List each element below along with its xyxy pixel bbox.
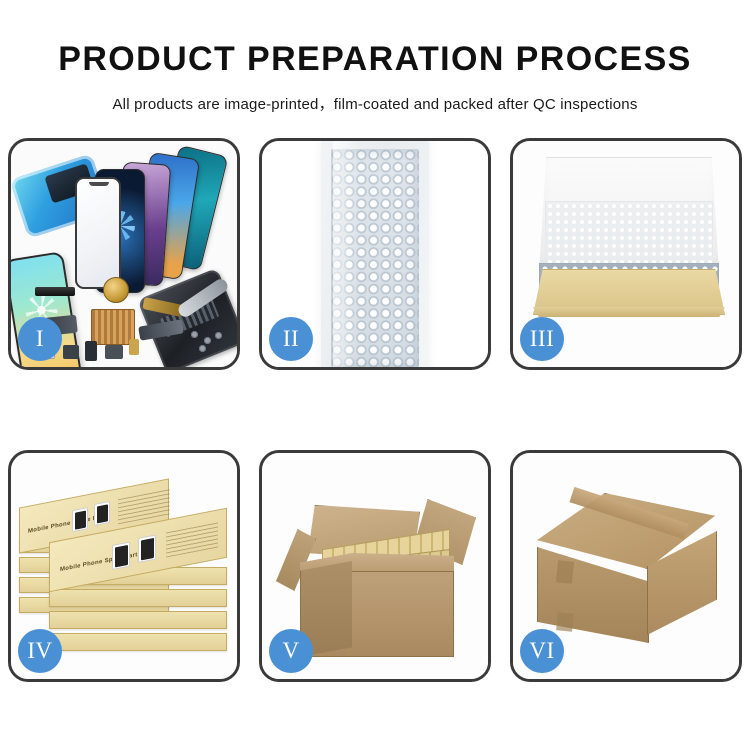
infographic-page: PRODUCT PREPARATION PROCESS All products… <box>0 0 750 750</box>
small-part-icon <box>63 345 79 359</box>
battery-connector-icon <box>85 341 97 361</box>
step-badge-6: VI <box>520 629 564 673</box>
vibrator-icon <box>105 345 123 359</box>
step-badge-1: I <box>18 317 62 361</box>
page-title: PRODUCT PREPARATION PROCESS <box>0 42 750 76</box>
process-step-panel-6[interactable]: VI <box>510 450 742 682</box>
carton-seam <box>556 612 574 632</box>
process-step-panel-1[interactable]: I <box>8 138 240 370</box>
speaker-coil-icon <box>103 277 129 303</box>
box-spec-lines <box>118 488 170 524</box>
page-subtitle: All products are image-printed，film-coat… <box>0 93 750 114</box>
step-badge-4: IV <box>18 629 62 673</box>
retail-box <box>49 589 227 607</box>
process-step-panel-5[interactable]: V <box>259 450 491 682</box>
process-step-panel-2[interactable]: II <box>259 138 491 370</box>
box-spec-lines <box>166 521 218 557</box>
box-phone-graphic <box>112 542 130 570</box>
screen-protector-icon <box>75 177 121 289</box>
step-badge-2: II <box>269 317 313 361</box>
gold-contact-icon <box>129 339 139 355</box>
box-phone-graphic <box>94 501 110 526</box>
retail-box <box>49 611 227 629</box>
process-step-grid: I II III <box>8 138 742 682</box>
screws-icon <box>191 331 225 353</box>
box-phone-graphic <box>138 535 156 563</box>
bubble-grid <box>331 149 419 367</box>
retail-box <box>49 633 227 651</box>
carton-seam <box>556 560 574 584</box>
process-step-panel-4[interactable]: Mobile Phone Spare Parts Mobile Phone Sp… <box>8 450 240 682</box>
connector-strip-icon <box>35 287 75 296</box>
phone-fan-group <box>83 147 240 287</box>
box-phone-graphic <box>72 507 88 532</box>
step-badge-3: III <box>520 317 564 361</box>
step-badge-5: V <box>269 629 313 673</box>
process-step-panel-3[interactable]: III <box>510 138 742 370</box>
box-front-edge <box>533 307 725 317</box>
header: PRODUCT PREPARATION PROCESS All products… <box>0 0 750 114</box>
bubble-wrap-pouch-icon <box>321 139 429 370</box>
